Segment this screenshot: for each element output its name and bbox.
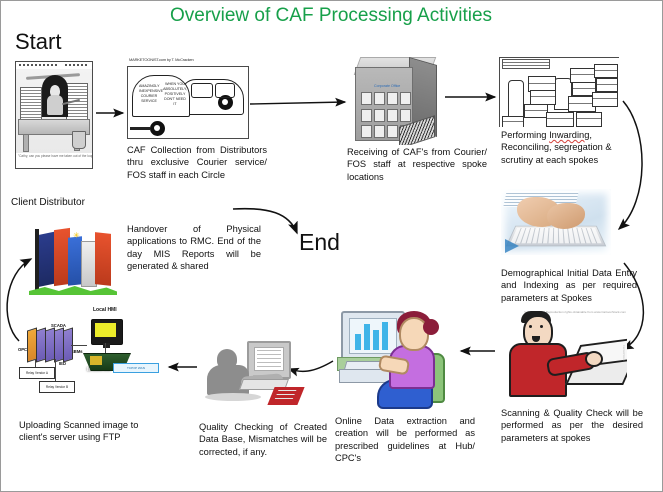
label-local-hmi: Local HMI <box>93 307 117 313</box>
person-at-computer-silhouette-icon <box>201 335 319 415</box>
cartoon-header: MARKETOONIST.com by T. McCracken <box>127 57 249 66</box>
cartoon-caption: "Cathy, can you please have me taken out… <box>16 153 92 164</box>
caption-receiving-cafs: Receiving of CAF's from Courier/ FOS sta… <box>347 146 487 183</box>
office-building-icon: Corporate Office <box>349 57 441 145</box>
caption-performing-inwarding: Performing Inwarding, Reconciling, segre… <box>501 129 637 166</box>
man-at-scanner-icon: © Original Artist Reproduction rights ob… <box>499 311 627 397</box>
caption-online-data-extraction: Online Data extraction and creation will… <box>335 415 475 465</box>
label-opc: OPC <box>18 347 27 352</box>
office-cartoon-icon: "Cathy, can you please have me taken out… <box>15 61 93 169</box>
caption-quality-checking: Quality Checking of Created Data Base, M… <box>199 421 327 458</box>
caption-scanning-quality: Scanning & Quality Check will be perform… <box>501 407 643 444</box>
label-relay-vendor-a: Relay Vendor A <box>19 367 55 379</box>
caption-handover-physical: Handover of Physical applications to RMC… <box>127 223 261 273</box>
van-text-left: AMAZINGLY INEXPENSIVE COURIER SERVICE <box>139 84 159 110</box>
client-distributor-label: Client Distributor <box>11 197 85 208</box>
comms-racks-icon: ✳ <box>21 227 129 301</box>
building-sign: Corporate Office <box>374 84 400 88</box>
caption-caf-collection: CAF Collection from Distributors thru ex… <box>127 144 267 181</box>
page-title: Overview of CAF Processing Activities <box>111 5 551 27</box>
end-marker: End <box>299 229 340 256</box>
warehouse-boxes-icon <box>499 57 619 127</box>
start-marker: Start <box>15 29 61 55</box>
slide-canvas: Overview of CAF Processing Activities St… <box>0 0 663 492</box>
network-scada-diagram-icon: SCADA OPC SBMs IED Local HMI Infoserver … <box>17 301 169 393</box>
courier-van-cartoon-icon: MARKETOONIST.com by T. McCracken AMAZING… <box>127 57 249 139</box>
label-tcp-ip-wan: TCP/IP WAN <box>113 363 159 373</box>
arrow-courier-to-building <box>250 102 345 104</box>
caption-misspelled-word: Inwarding <box>549 130 589 140</box>
van-text-right: WHEN YOU ABSOLUTELY, POSITIVELY DON'T NE… <box>163 82 187 112</box>
caption-part-a: Performing <box>501 130 549 140</box>
woman-at-computer-icon <box>335 309 453 409</box>
hands-on-keyboard-icon <box>501 189 611 255</box>
caption-demographic-entry: Demographical Initial Data Entry and Ind… <box>501 267 637 304</box>
label-relay-vendor-b: Relay Vendor B <box>39 381 75 393</box>
caption-uploading-scanned-image: Uploading Scanned image to client's serv… <box>19 419 169 444</box>
watermark-side: CartoonStock <box>622 345 625 361</box>
